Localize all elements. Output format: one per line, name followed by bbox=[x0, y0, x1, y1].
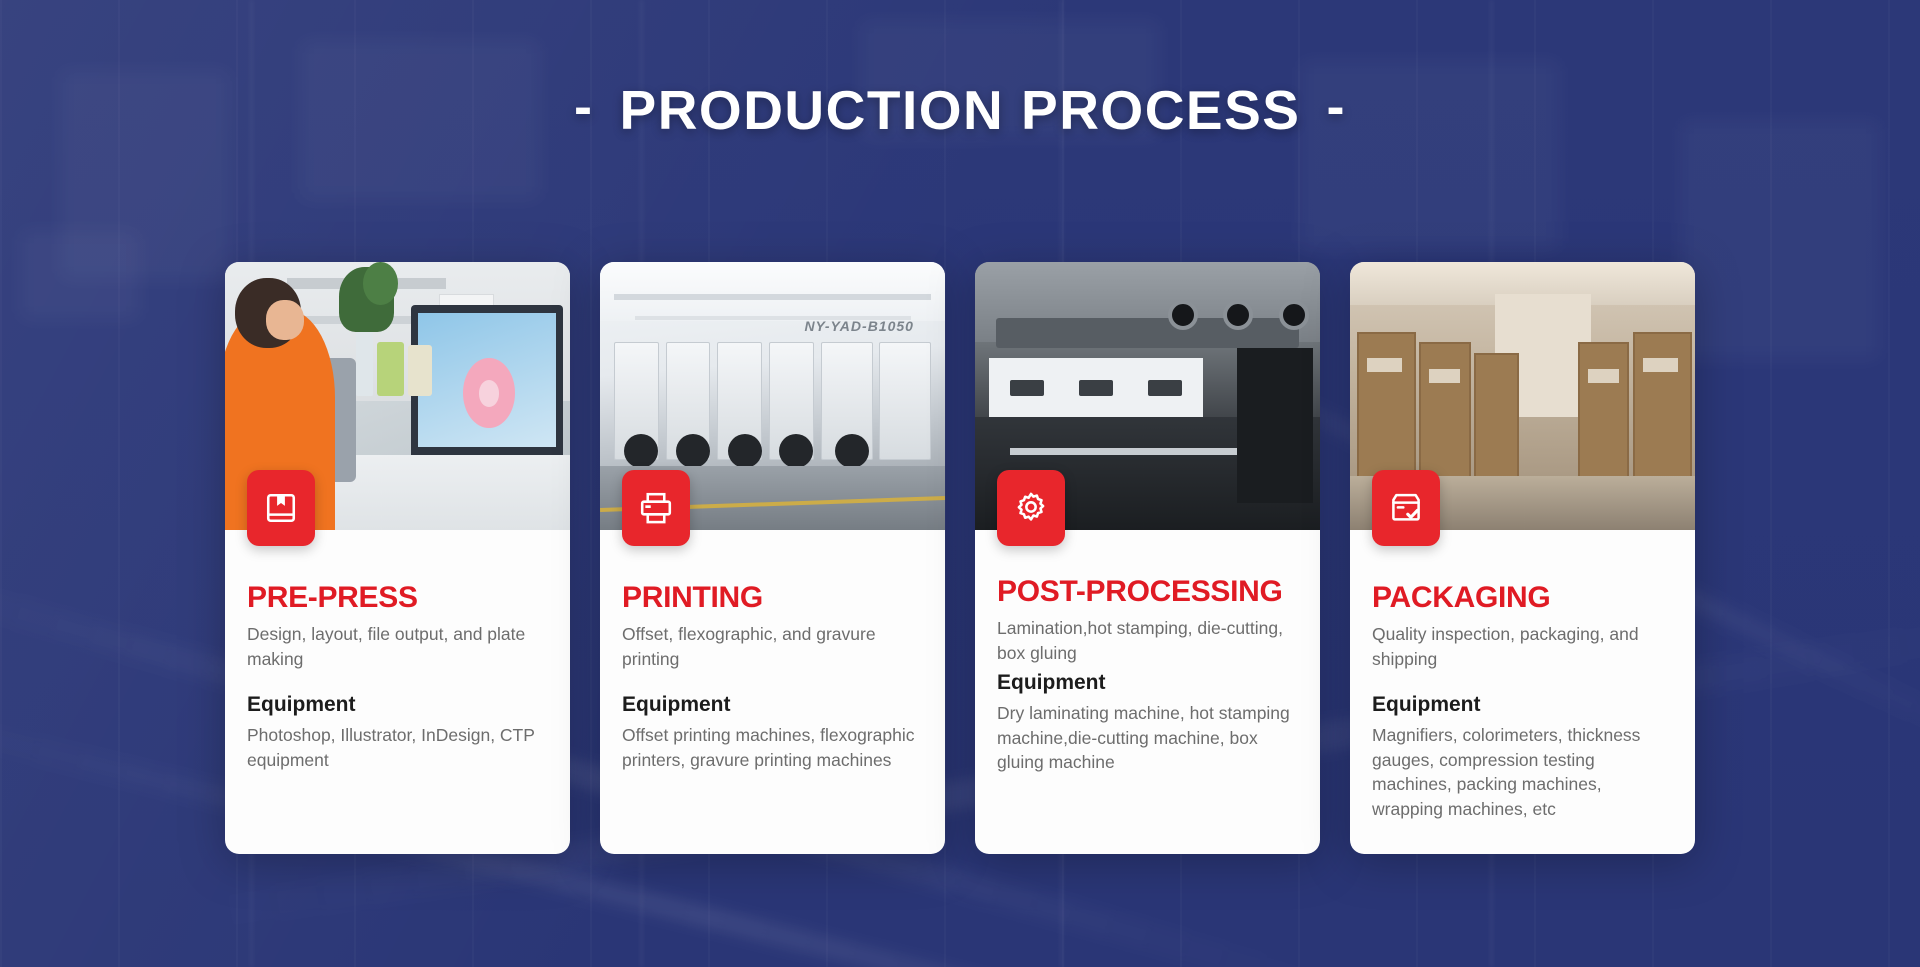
card-title: POST-PROCESSING bbox=[997, 576, 1298, 608]
card-badge-printing bbox=[622, 470, 690, 546]
printer-icon bbox=[638, 490, 674, 526]
card-title: PRE-PRESS bbox=[247, 582, 548, 614]
card-equipment-text: Photoshop, Illustrator, InDesign, CTP eq… bbox=[247, 723, 548, 772]
card-badge-packaging bbox=[1372, 470, 1440, 546]
page-title-container: - PRODUCTION PROCESS - bbox=[0, 78, 1920, 142]
title-dash-left: - bbox=[574, 80, 593, 134]
card-title: PACKAGING bbox=[1372, 582, 1673, 614]
machine-model-label: NY-YAD-B1050 bbox=[804, 318, 914, 334]
card-equipment-label: Equipment bbox=[622, 693, 923, 717]
card-body-pre-press: PRE-PRESS Design, layout, file output, a… bbox=[225, 530, 570, 854]
card-equipment-text: Offset printing machines, flexographic p… bbox=[622, 723, 923, 772]
card-badge-post-processing bbox=[997, 470, 1065, 546]
card-equipment-text: Magnifiers, colorimeters, thickness gaug… bbox=[1372, 723, 1673, 821]
box-check-icon bbox=[1388, 490, 1424, 526]
process-card-list: PRE-PRESS Design, layout, file output, a… bbox=[0, 262, 1920, 854]
card-equipment-text: Dry laminating machine, hot stamping mac… bbox=[997, 701, 1298, 775]
card-equipment-label: Equipment bbox=[247, 693, 548, 717]
card-equipment-label: Equipment bbox=[997, 671, 1298, 695]
card-description: Quality inspection, packaging, and shipp… bbox=[1372, 622, 1673, 671]
card-badge-pre-press bbox=[247, 470, 315, 546]
book-bookmark-icon bbox=[263, 490, 299, 526]
gear-icon bbox=[1013, 490, 1049, 526]
card-description: Design, layout, file output, and plate m… bbox=[247, 622, 548, 671]
page-title: - PRODUCTION PROCESS - bbox=[574, 78, 1346, 142]
process-card-packaging[interactable]: PACKAGING Quality inspection, packaging,… bbox=[1350, 262, 1695, 854]
card-body-post-processing: POST-PROCESSING Lamination,hot stamping,… bbox=[975, 530, 1320, 854]
title-dash-right: - bbox=[1326, 80, 1345, 134]
card-body-printing: PRINTING Offset, flexographic, and gravu… bbox=[600, 530, 945, 854]
process-card-pre-press[interactable]: PRE-PRESS Design, layout, file output, a… bbox=[225, 262, 570, 854]
card-description: Lamination,hot stamping, die-cutting, bo… bbox=[997, 616, 1298, 665]
card-body-packaging: PACKAGING Quality inspection, packaging,… bbox=[1350, 530, 1695, 854]
page-title-text: PRODUCTION PROCESS bbox=[620, 78, 1301, 142]
card-equipment-label: Equipment bbox=[1372, 693, 1673, 717]
process-card-post-processing[interactable]: POST-PROCESSING Lamination,hot stamping,… bbox=[975, 262, 1320, 854]
card-title: PRINTING bbox=[622, 582, 923, 614]
process-card-printing[interactable]: NY-YAD-B1050 PRINTING Offset, flexograph… bbox=[600, 262, 945, 854]
card-description: Offset, flexographic, and gravure printi… bbox=[622, 622, 923, 671]
